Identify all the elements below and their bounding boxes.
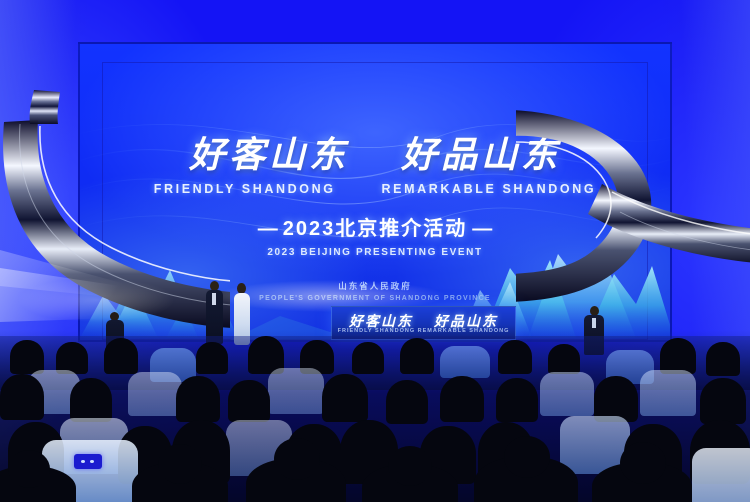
audience-member <box>498 340 532 374</box>
audience-member <box>10 340 44 374</box>
chair <box>268 368 324 414</box>
audience-member-head <box>388 446 432 486</box>
audience-member <box>548 344 580 374</box>
audience-member <box>386 380 428 424</box>
audience-member <box>228 380 270 422</box>
host-male-shirt <box>212 293 216 305</box>
audience-member <box>352 342 384 374</box>
audience-member <box>496 378 538 422</box>
audience-member-head <box>274 438 320 480</box>
podium-led-sign: 好客山东 好品山东 FRIENDLY SHANDONG REMARKABLE S… <box>331 306 516 340</box>
audience-member <box>70 378 112 422</box>
chair <box>540 372 594 416</box>
audience-member <box>322 374 368 422</box>
audience-member <box>196 342 228 374</box>
chair-logo-badge <box>74 454 102 469</box>
chair <box>692 448 750 502</box>
chair <box>128 372 182 416</box>
chair <box>640 370 696 416</box>
audience-member-head <box>158 444 202 484</box>
audience-member <box>660 338 696 374</box>
audience-member <box>104 338 138 374</box>
stage-photo: 好客山东 好品山东 FRIENDLY SHANDONG REMARKABLE S… <box>0 0 750 502</box>
audience-member <box>400 338 434 374</box>
audience-member <box>440 376 484 422</box>
podium-sign-en: FRIENDLY SHANDONG REMARKABLE SHANDONG <box>332 328 515 334</box>
audience-area <box>0 336 750 502</box>
audience-member <box>706 342 740 376</box>
host-female <box>231 283 253 343</box>
audience-member-head <box>620 442 666 484</box>
audience-member-head <box>504 436 550 478</box>
speaker-right-shirt <box>592 318 596 328</box>
audience-member-head <box>8 450 50 488</box>
audience-member <box>0 374 44 420</box>
audience-member <box>176 376 220 422</box>
chair <box>440 346 490 378</box>
led-backdrop-screen: 好客山东 好品山东 FRIENDLY SHANDONG REMARKABLE S… <box>78 42 672 342</box>
host-male <box>203 281 225 343</box>
audience-member <box>700 378 746 424</box>
